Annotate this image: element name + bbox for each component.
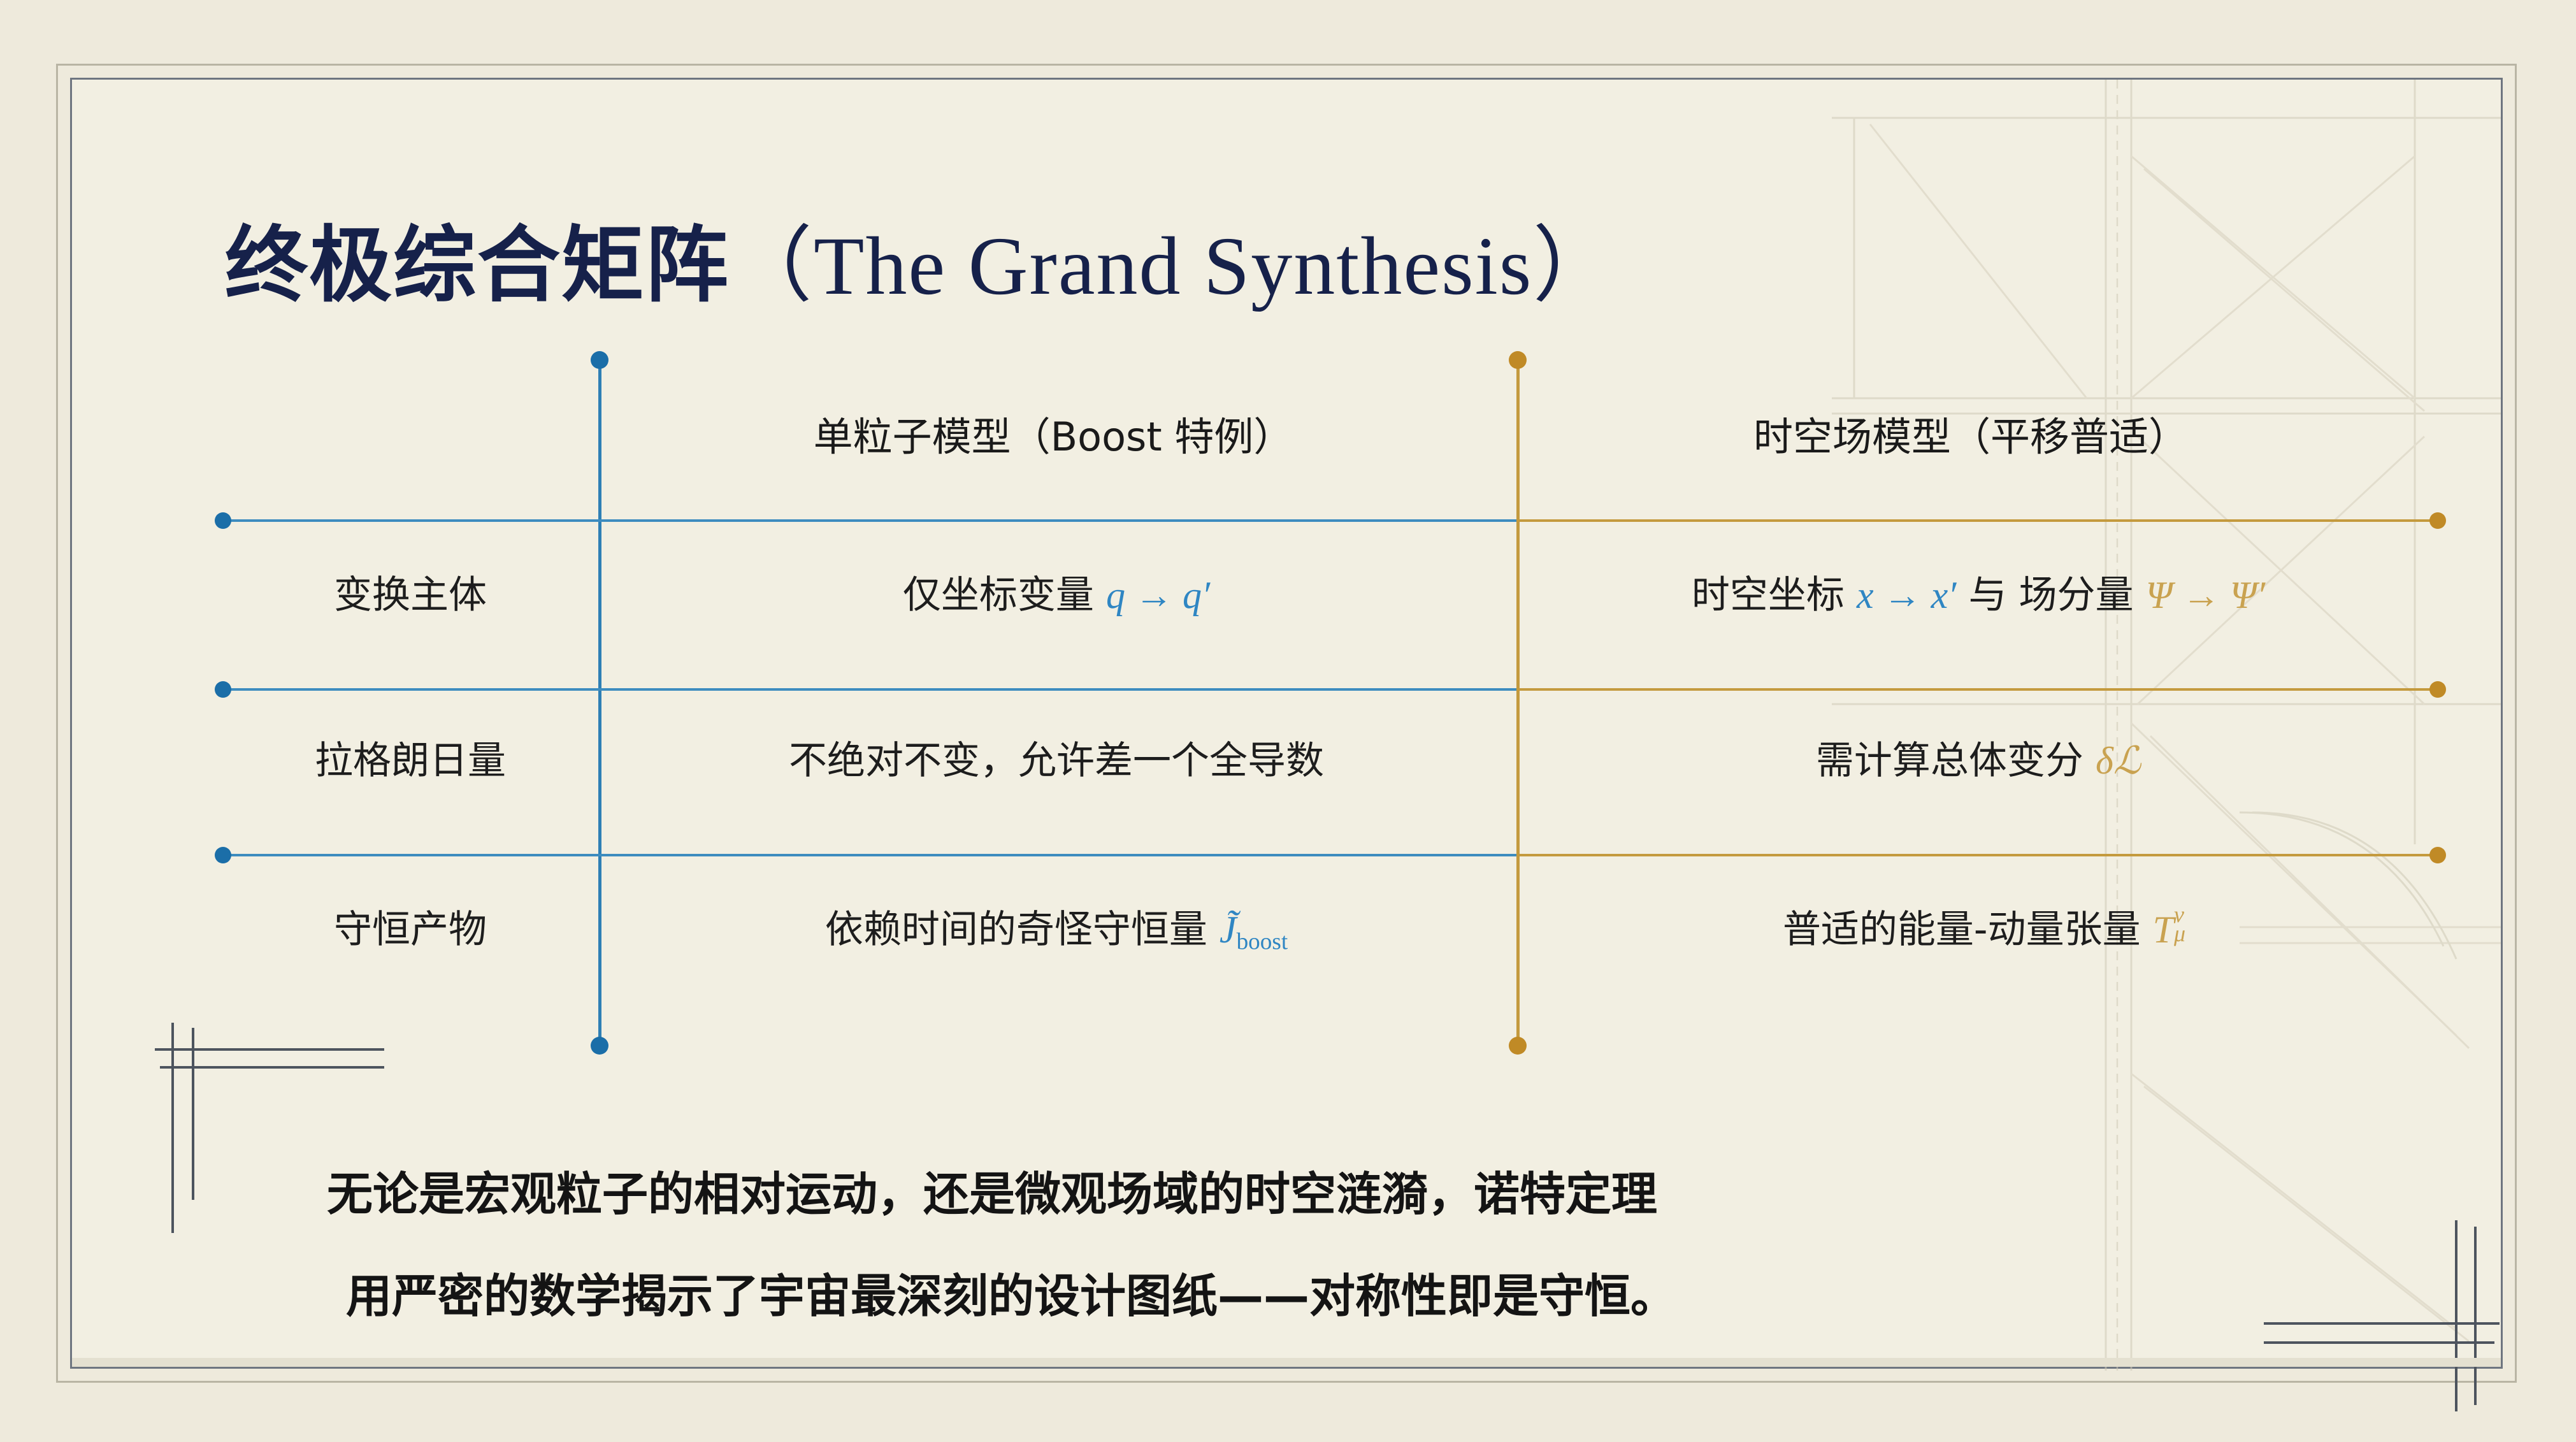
row-rule-blue-2 [222, 688, 1519, 691]
row-3-left-math-j: J̃ [1220, 909, 1237, 951]
column-header-single-particle: 单粒子模型（Boost 特例） [607, 405, 1499, 462]
slide-root: 终极综合矩阵（The Grand Synthesis） 单粒子模型（Boost … [0, 0, 2576, 1442]
column-divider-blue-top-dot [591, 351, 608, 369]
row-2-cell-left: 不绝对不变，允许差一个全导数 [607, 730, 1506, 785]
column-divider-gold-top-dot [1509, 351, 1527, 369]
row-rule-blue-1 [222, 519, 1519, 522]
column-divider-gold [1516, 360, 1520, 1045]
row-2-cell-right: 需计算总体变分 δℒ [1526, 730, 2431, 785]
row-1-right-text-a: 时空坐标 [1692, 573, 1857, 617]
row-rule-gold-2-dot [2429, 681, 2446, 698]
row-1-right-math-psi: Ψ → Ψ′ [2146, 574, 2266, 616]
column-divider-blue [598, 360, 601, 1045]
row-1-cell-right: 时空坐标 x → x′ 与 场分量 Ψ → Ψ′ [1526, 564, 2431, 619]
row-rule-blue-1-dot [215, 512, 231, 529]
row-rule-blue-3-dot [215, 847, 231, 863]
row-1-cell-left: 仅坐标变量 q → q′ [607, 564, 1506, 619]
row-rule-blue-2-dot [215, 681, 231, 698]
row-3-cell-right: 普适的能量-动量张量 Tνμ [1526, 898, 2431, 954]
row-1-left-math: q → q′ [1106, 574, 1210, 616]
bottom-edge-shadow [72, 1358, 2501, 1367]
row-rule-gold-3 [1516, 854, 2437, 856]
row-3-right-math-tensor: Tνμ [2153, 908, 2174, 952]
row-3-right-math-tensor-base: T [2153, 909, 2174, 951]
row-label-transform-subject: 变换主体 [222, 564, 598, 619]
row-rule-gold-1-dot [2429, 512, 2446, 529]
row-3-right-math-tensor-subscript: μ [2174, 920, 2185, 947]
row-label-lagrangian: 拉格朗日量 [222, 730, 598, 785]
row-3-left-math-subscript: boost [1237, 928, 1288, 955]
row-rule-blue-3 [222, 854, 1519, 856]
row-3-left-text: 依赖时间的奇怪守恒量 [825, 907, 1220, 952]
row-rule-gold-3-dot [2429, 847, 2446, 863]
row-2-right-text: 需计算总体变分 [1816, 739, 2096, 783]
row-3-cell-left: 依赖时间的奇怪守恒量 J̃boost [607, 898, 1506, 955]
row-1-right-text-b: 与 场分量 [1956, 573, 2145, 617]
row-label-conserved-product: 守恒产物 [222, 898, 598, 954]
row-rule-gold-1 [1516, 519, 2437, 522]
column-header-field-model: 时空场模型（平移普适） [1525, 405, 2417, 462]
conclusion-line-2: 用严密的数学揭示了宇宙最深刻的设计图纸——对称性即是守恒。 [346, 1258, 1676, 1325]
conclusion-line-1: 无论是宏观粒子的相对运动，还是微观场域的时空涟漪，诺特定理 [327, 1157, 1657, 1223]
row-rule-gold-2 [1516, 688, 2437, 691]
column-divider-blue-bottom-dot [591, 1037, 608, 1055]
row-1-right-math-x: x → x′ [1857, 574, 1956, 616]
column-divider-gold-bottom-dot [1509, 1037, 1527, 1055]
inner-frame: 终极综合矩阵（The Grand Synthesis） 单粒子模型（Boost … [70, 78, 2503, 1369]
row-2-left-text: 不绝对不变，允许差一个全导数 [789, 739, 1324, 783]
row-3-right-text: 普适的能量-动量张量 [1783, 907, 2153, 952]
row-2-right-math-dl: δℒ [2096, 740, 2141, 782]
row-1-left-text: 仅坐标变量 [903, 573, 1106, 617]
